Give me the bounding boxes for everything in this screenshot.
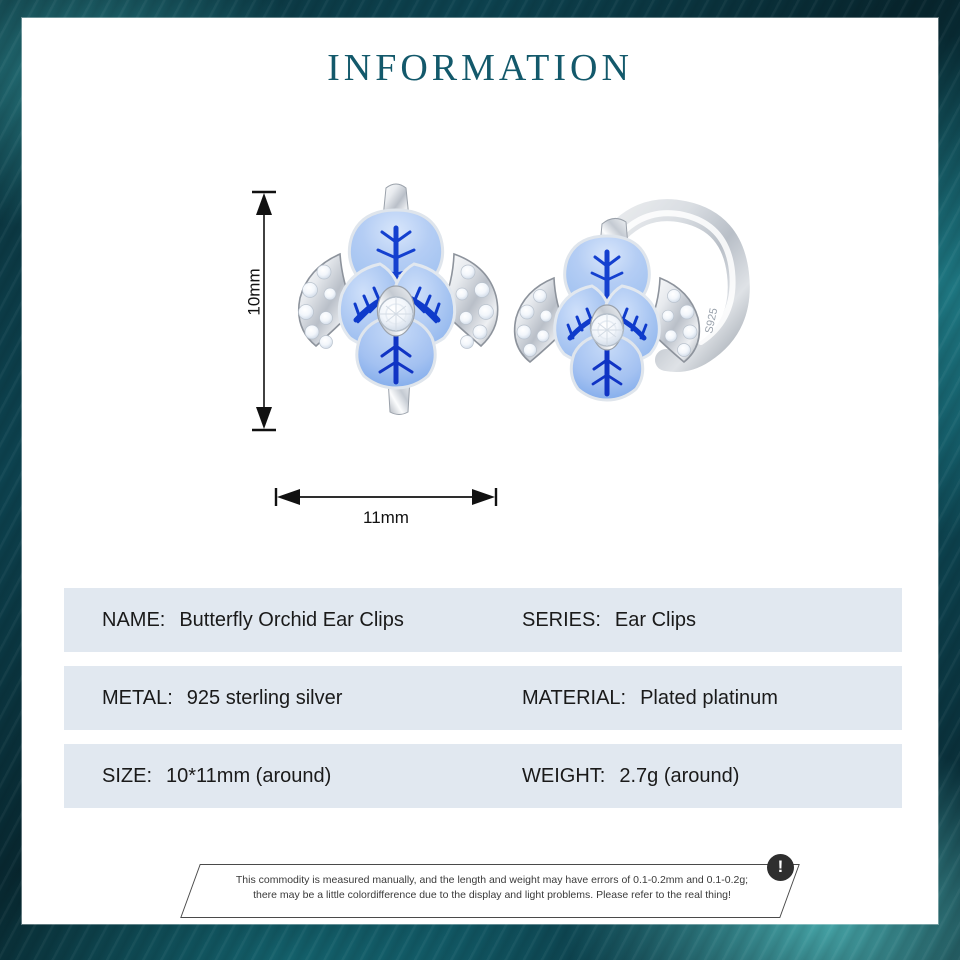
orchid-earrings-illustration: S925 (268, 166, 768, 446)
earrings-image: S925 (268, 166, 768, 446)
spec-value: 925 sterling silver (187, 687, 343, 710)
spec-cell-name: NAME: Butterfly Orchid Ear Clips (102, 609, 522, 632)
earring-right: S925 (515, 210, 739, 400)
spec-value: 2.7g (around) (619, 765, 739, 788)
disclaimer-line-1: This commodity is measured manually, and… (224, 873, 760, 888)
disclaimer-text: This commodity is measured manually, and… (224, 873, 760, 903)
spec-key: SIZE: (102, 765, 152, 788)
spec-cell-weight: WEIGHT: 2.7g (around) (522, 765, 739, 788)
exclamation-glyph: ! (778, 858, 784, 875)
spec-cell-series: SERIES: Ear Clips (522, 609, 696, 632)
page-background: INFORMATION 10mm (0, 0, 960, 960)
disclaimer-banner: This commodity is measured manually, and… (190, 864, 790, 918)
earring-left (299, 184, 498, 415)
spec-cell-size: SIZE: 10*11mm (around) (102, 765, 522, 788)
width-dimension: 11mm (274, 486, 498, 538)
width-arrow-icon (274, 486, 498, 508)
spec-value: Butterfly Orchid Ear Clips (179, 609, 404, 632)
table-row: SIZE: 10*11mm (around) WEIGHT: 2.7g (aro… (64, 744, 902, 808)
spec-key: MATERIAL: (522, 687, 626, 710)
table-row: METAL: 925 sterling silver MATERIAL: Pla… (64, 666, 902, 730)
product-photo-area: 10mm 11mm (22, 148, 938, 548)
width-label: 11mm (274, 508, 498, 528)
specs-table: NAME: Butterfly Orchid Ear Clips SERIES:… (64, 588, 902, 822)
spec-key: NAME: (102, 609, 165, 632)
spec-cell-material: MATERIAL: Plated platinum (522, 687, 778, 710)
table-row: NAME: Butterfly Orchid Ear Clips SERIES:… (64, 588, 902, 652)
spec-key: SERIES: (522, 609, 601, 632)
spec-cell-metal: METAL: 925 sterling silver (102, 687, 522, 710)
page-title: INFORMATION (22, 46, 938, 90)
spec-value: Plated platinum (640, 687, 778, 710)
exclamation-icon: ! (767, 854, 794, 881)
disclaimer-line-2: there may be a little colordifference du… (224, 888, 760, 903)
height-label: 10mm (245, 268, 265, 315)
spec-key: METAL: (102, 687, 173, 710)
spec-value: 10*11mm (around) (166, 765, 331, 788)
spec-value: Ear Clips (615, 609, 696, 632)
info-card: INFORMATION 10mm (22, 18, 938, 924)
spec-key: WEIGHT: (522, 765, 605, 788)
